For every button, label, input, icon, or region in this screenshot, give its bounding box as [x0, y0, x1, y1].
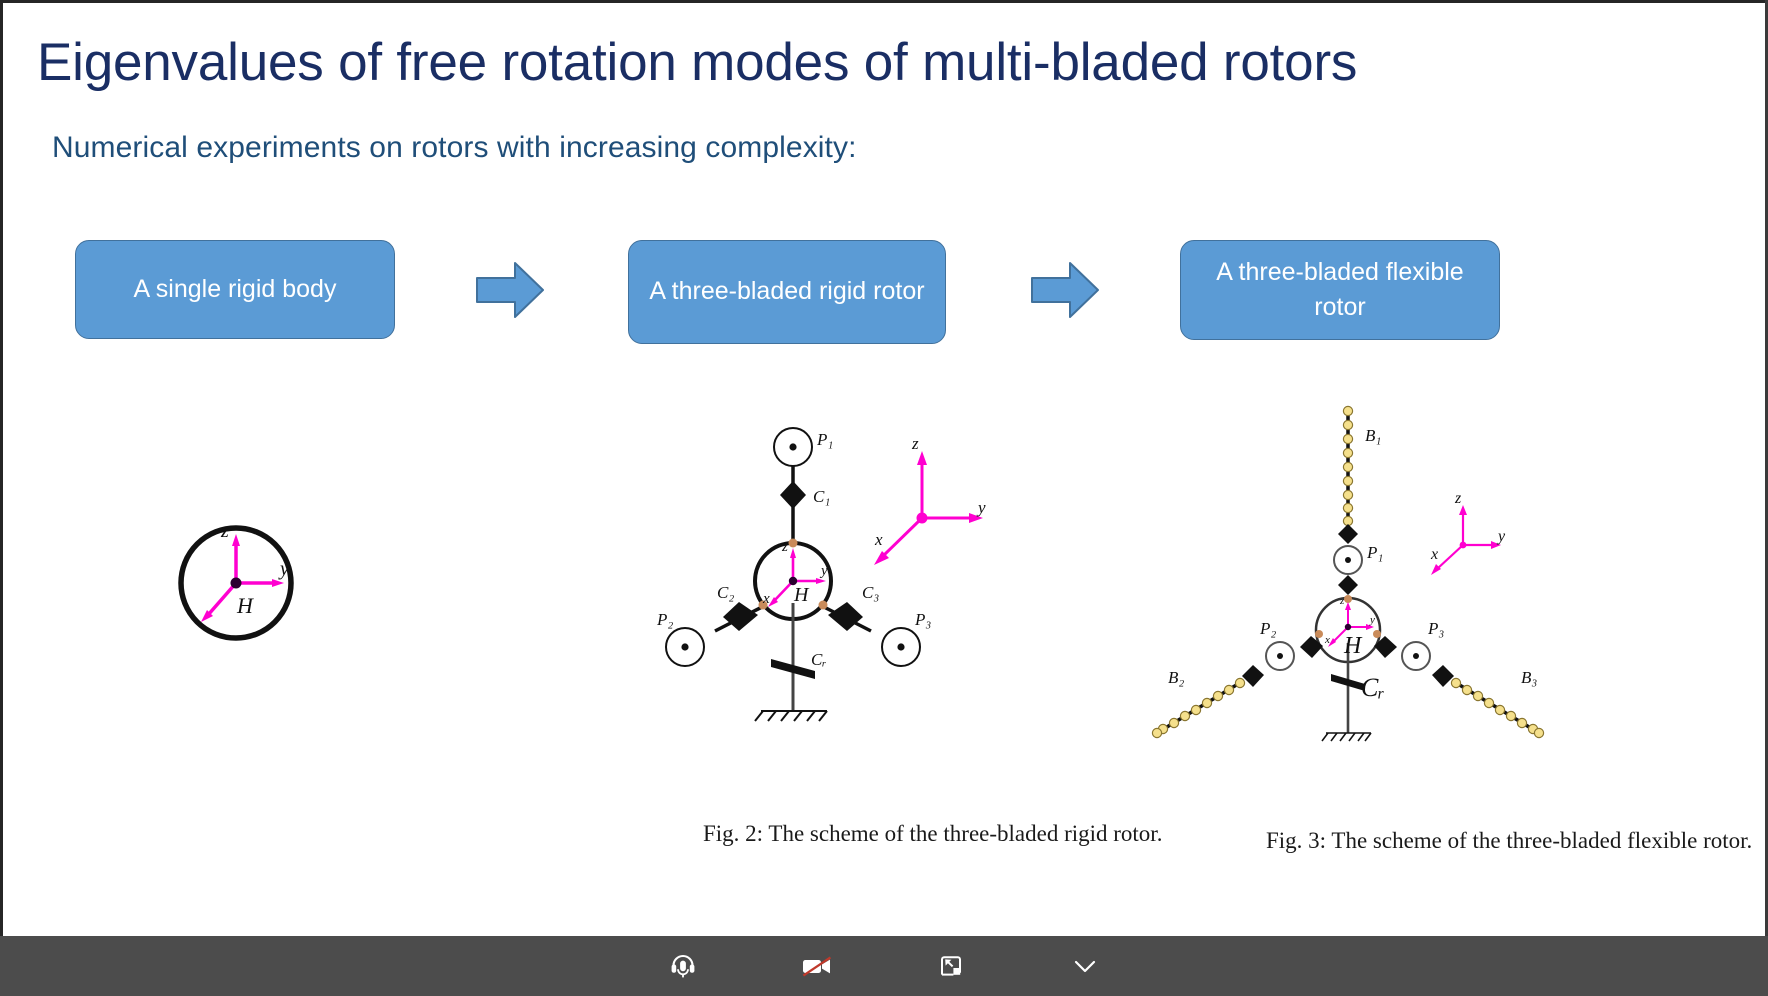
fig3-ground [1322, 733, 1371, 741]
flow-box-three-bladed-rigid-rotor[interactable]: A three-bladed rigid rotor [628, 240, 946, 344]
fig2-hub-axis-y: y [819, 563, 828, 579]
slide-canvas: Eigenvalues of free rotation modes of mu… [3, 3, 1765, 934]
fig3-frame-axis-x: x [1430, 546, 1438, 563]
fig3-mass-p3-dot [1413, 653, 1419, 659]
fig2-hub-label: H [793, 584, 810, 606]
fig2-joint-1 [789, 539, 798, 548]
figure-2-caption: Fig. 2: The scheme of the three-bladed r… [703, 821, 1162, 847]
fig1-hub-label: H [236, 593, 254, 618]
fig3-hub-origin-dot [1345, 624, 1351, 630]
slide-subtitle: Numerical experiments on rotors with inc… [52, 131, 857, 165]
fig1-axis-label-z: z [220, 520, 229, 542]
fig1-axis-label-y: y [278, 558, 289, 580]
fig3-joint-3 [1373, 630, 1381, 638]
fig2-joint-3 [819, 601, 828, 610]
fig3-frame-axis-z: z [1454, 490, 1462, 507]
fig2-label-c1: C₁ [813, 487, 830, 506]
flow-box-label: A single rigid body [134, 272, 337, 308]
flow-box-single-rigid-body[interactable]: A single rigid body [75, 240, 395, 339]
figure-three-bladed-flexible-rotor: B₁ P₁ P₂ B₂ [1143, 393, 1613, 753]
fig3-label-b1: B₁ [1365, 426, 1381, 445]
headset-icon[interactable] [656, 944, 710, 988]
chevron-down-icon[interactable] [1058, 944, 1112, 988]
fig3-blade-3-nodes [1451, 678, 1543, 737]
fig2-mass-p1-dot [789, 443, 796, 450]
fig3-spring-top-inner [1338, 575, 1358, 595]
fig1-origin-dot [231, 578, 242, 589]
flow-arrow-2 [1030, 259, 1100, 321]
fig3-label-b3: B₃ [1521, 668, 1537, 687]
fig3-label-p3: P₃ [1427, 619, 1444, 638]
fig3-frame-axis-y: y [1496, 528, 1506, 545]
fig2-hub-axis-x: x [762, 591, 770, 607]
fig3-blade-1-nodes [1343, 406, 1352, 525]
fig3-hub-axis-y: y [1369, 614, 1375, 626]
camera-off-icon[interactable] [790, 944, 844, 988]
fig2-hub-axis-z: z [781, 539, 788, 555]
fig3-label-b2: B₂ [1168, 668, 1184, 687]
meeting-toolbar [0, 936, 1768, 996]
slide-title: Eigenvalues of free rotation modes of mu… [37, 34, 1687, 91]
fig3-mass-p2-dot [1277, 653, 1283, 659]
flow-box-label: A three-bladed flexible rotor [1195, 255, 1485, 326]
fig2-label-p3: P₃ [914, 610, 931, 629]
fig3-mass-p1-dot [1345, 557, 1351, 563]
flow-arrow-1 [475, 259, 545, 321]
fig3-blade-2-nodes [1152, 678, 1244, 737]
fig2-frame-axis-y: y [976, 498, 986, 517]
share-screen-icon[interactable] [924, 944, 978, 988]
fig3-joint-2 [1315, 630, 1323, 638]
fig3-hub-axis-x: x [1324, 634, 1330, 646]
fig2-spring-c3 [828, 602, 863, 631]
fig2-label-cr: Cᵣ [811, 650, 827, 669]
fig3-spring-right-outer [1432, 665, 1454, 687]
fig2-spring-c2 [723, 602, 758, 631]
fig3-label-cr: Cᵣ [1361, 673, 1385, 702]
fig2-ground [755, 711, 827, 721]
fig2-mass-p2-dot [681, 643, 688, 650]
fig2-frame-origin-dot [917, 513, 928, 524]
presentation-viewport: Eigenvalues of free rotation modes of mu… [0, 0, 1768, 996]
fig3-reference-frame-axes [1431, 505, 1501, 575]
fig2-frame-axis-z: z [911, 434, 919, 453]
fig2-reference-frame-axes [874, 451, 983, 565]
flow-box-label: A three-bladed rigid rotor [649, 274, 924, 310]
fig3-frame-origin-dot [1460, 542, 1467, 549]
fig3-hub-label: H [1343, 633, 1363, 659]
figure-3-caption: Fig. 3: The scheme of the three-bladed f… [1266, 828, 1752, 854]
fig2-mass-p3-dot [897, 643, 904, 650]
fig3-label-p1: P₁ [1366, 543, 1383, 562]
fig2-spring-c1 [780, 481, 806, 509]
fig2-label-p1: P₁ [816, 430, 833, 449]
fig2-label-p2: P₂ [656, 610, 673, 629]
fig3-hub-axis-z: z [1339, 595, 1345, 607]
figure-three-bladed-rigid-rotor: P₁ C₁ C₂ P₂ C₃ P₃ Cᵣ [615, 403, 1085, 763]
fig3-spring-left-outer [1242, 665, 1264, 687]
fig3-joint-1 [1344, 595, 1352, 603]
fig2-label-c2: C₂ [717, 583, 734, 602]
figure-single-rigid-body: z y H [123, 433, 463, 763]
flow-box-three-bladed-flexible-rotor[interactable]: A three-bladed flexible rotor [1180, 240, 1500, 340]
fig2-label-c3: C₃ [862, 583, 879, 602]
fig3-label-p2: P₂ [1259, 619, 1276, 638]
fig2-frame-axis-x: x [874, 530, 883, 549]
fig3-spring-top-outer [1338, 524, 1358, 544]
